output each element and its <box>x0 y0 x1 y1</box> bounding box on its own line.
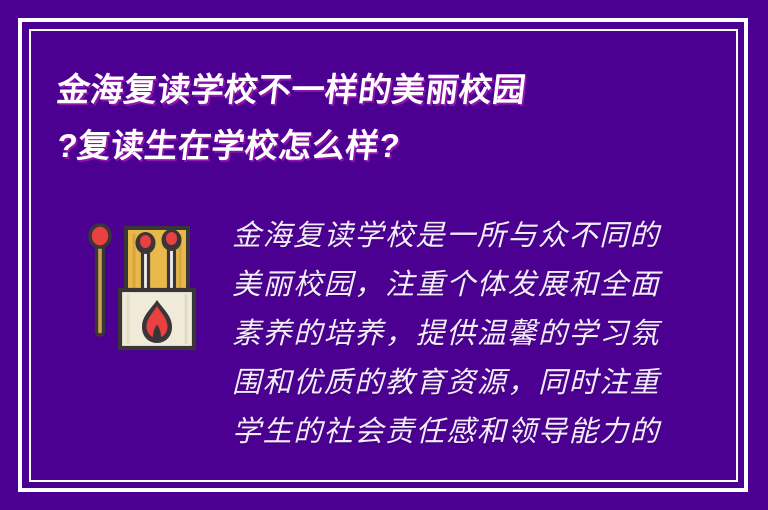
body-line-4: 围和优质的教育资源，同时注重 <box>232 359 648 408</box>
headline-line-2: ?复读生在学校怎么样? <box>54 118 671 174</box>
body-line-3: 素养的培养，提供温馨的学习氛 <box>232 310 648 359</box>
body-line-2: 美丽校园，注重个体发展和全面 <box>232 261 648 310</box>
body-copy-block: 金海复读学校是一所与众不同的 美丽校园，注重个体发展和全面 素养的培养，提供温馨… <box>232 212 648 457</box>
headline-line-1: 金海复读学校不一样的美丽校园 <box>54 62 671 118</box>
body-line-5: 学生的社会责任感和领导能力的 <box>232 408 648 457</box>
headline-block: 金海复读学校不一样的美丽校园 ?复读生在学校怎么样? <box>57 62 667 174</box>
body-line-1: 金海复读学校是一所与众不同的 <box>232 212 648 261</box>
matchbox-illustration <box>72 212 200 360</box>
poster-canvas: 金海复读学校不一样的美丽校园 ?复读生在学校怎么样? <box>0 0 768 510</box>
match-stick-icon <box>90 225 110 335</box>
